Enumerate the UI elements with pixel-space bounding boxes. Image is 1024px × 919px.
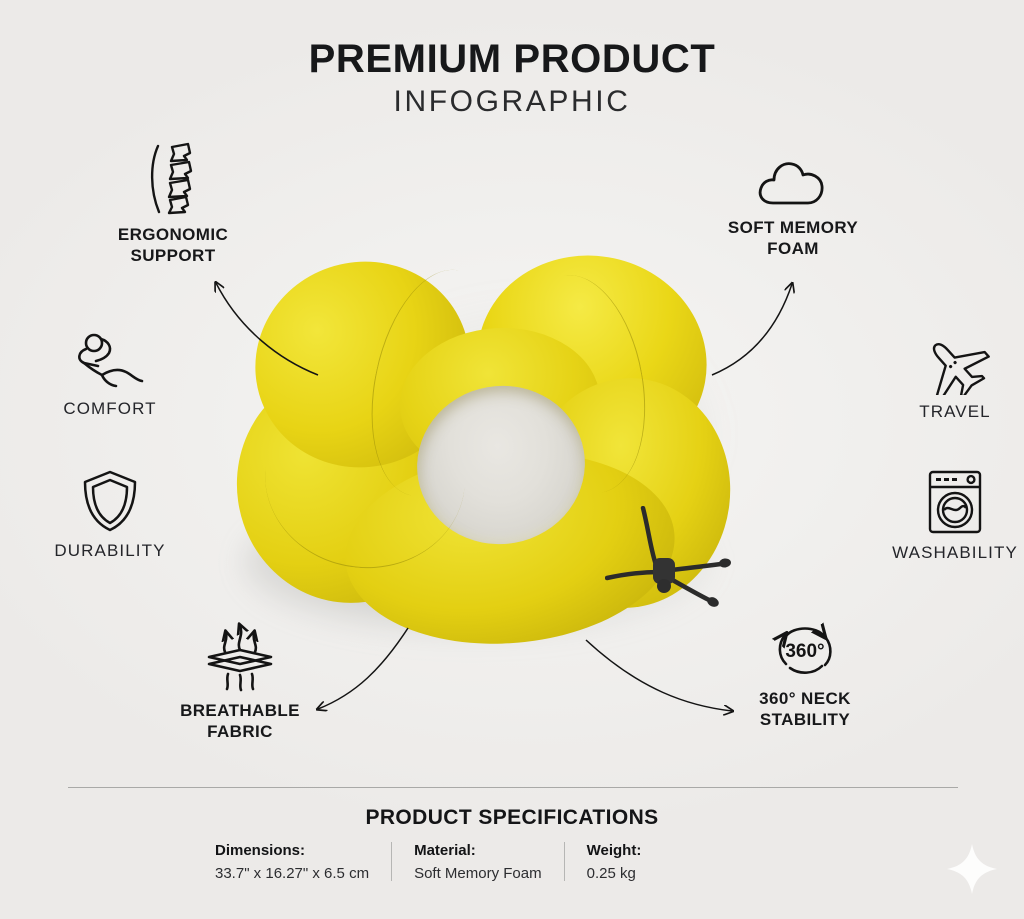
feature-washability[interactable]: WASHABILITY: [850, 468, 1024, 564]
sparkle-icon: [944, 841, 1000, 897]
cloud-icon: [688, 155, 898, 211]
feature-travel[interactable]: TRAVEL: [850, 333, 1024, 423]
feature-soft-memory-foam[interactable]: SOFT MEMORY FOAM: [688, 155, 898, 259]
spec-key: Weight:: [587, 840, 642, 863]
feature-ergonomic-support[interactable]: ERGONOMIC SUPPORT: [68, 140, 278, 266]
spec-key: Material:: [414, 840, 542, 863]
feature-label: COMFORT: [5, 399, 215, 420]
feature-comfort[interactable]: COMFORT: [5, 330, 215, 420]
feature-label: ERGONOMIC SUPPORT: [68, 225, 278, 266]
shield-icon: [5, 468, 215, 534]
spec-value: 0.25 kg: [587, 863, 642, 886]
infographic-canvas: PREMIUM PRODUCT INFOGRAPHIC: [0, 0, 1024, 919]
feature-label: WASHABILITY: [850, 543, 1024, 564]
header: PREMIUM PRODUCT INFOGRAPHIC: [0, 38, 1024, 119]
feature-360-neck-stability[interactable]: 360° 360° NECK STABILITY: [700, 620, 910, 730]
specifications-list: Dimensions: 33.7" x 16.27" x 6.5 cm Mate…: [215, 840, 815, 885]
airflow-fabric-icon: [135, 620, 345, 694]
rotation-icon-text: 360°: [785, 641, 824, 662]
page-subtitle: INFOGRAPHIC: [0, 85, 1024, 119]
feature-label: TRAVEL: [850, 402, 1024, 423]
washing-machine-icon: [850, 468, 1024, 536]
spine-icon: [68, 140, 278, 218]
spec-item-dimensions: Dimensions: 33.7" x 16.27" x 6.5 cm: [215, 840, 391, 885]
feature-label: DURABILITY: [5, 541, 215, 562]
spec-value: 33.7" x 16.27" x 6.5 cm: [215, 863, 369, 886]
resting-person-icon: [5, 330, 215, 392]
specifications-title: PRODUCT SPECIFICATIONS: [0, 806, 1024, 830]
feature-label: SOFT MEMORY FOAM: [688, 218, 898, 259]
rotation-360-icon: 360°: [700, 620, 910, 682]
specifications-divider: [68, 787, 958, 788]
spec-value: Soft Memory Foam: [414, 863, 542, 886]
feature-breathable-fabric[interactable]: BREATHABLE FABRIC: [135, 620, 345, 742]
feature-durability[interactable]: DURABILITY: [5, 468, 215, 562]
feature-label: 360° NECK STABILITY: [700, 689, 910, 730]
airplane-icon: [850, 333, 1024, 395]
drawstring-cord: [605, 506, 775, 636]
spec-item-weight: Weight: 0.25 kg: [565, 840, 664, 885]
page-title: PREMIUM PRODUCT: [0, 38, 1024, 81]
spec-item-material: Material: Soft Memory Foam: [392, 840, 564, 885]
product-image: [225, 238, 745, 668]
spec-key: Dimensions:: [215, 840, 369, 863]
feature-label: BREATHABLE FABRIC: [135, 701, 345, 742]
